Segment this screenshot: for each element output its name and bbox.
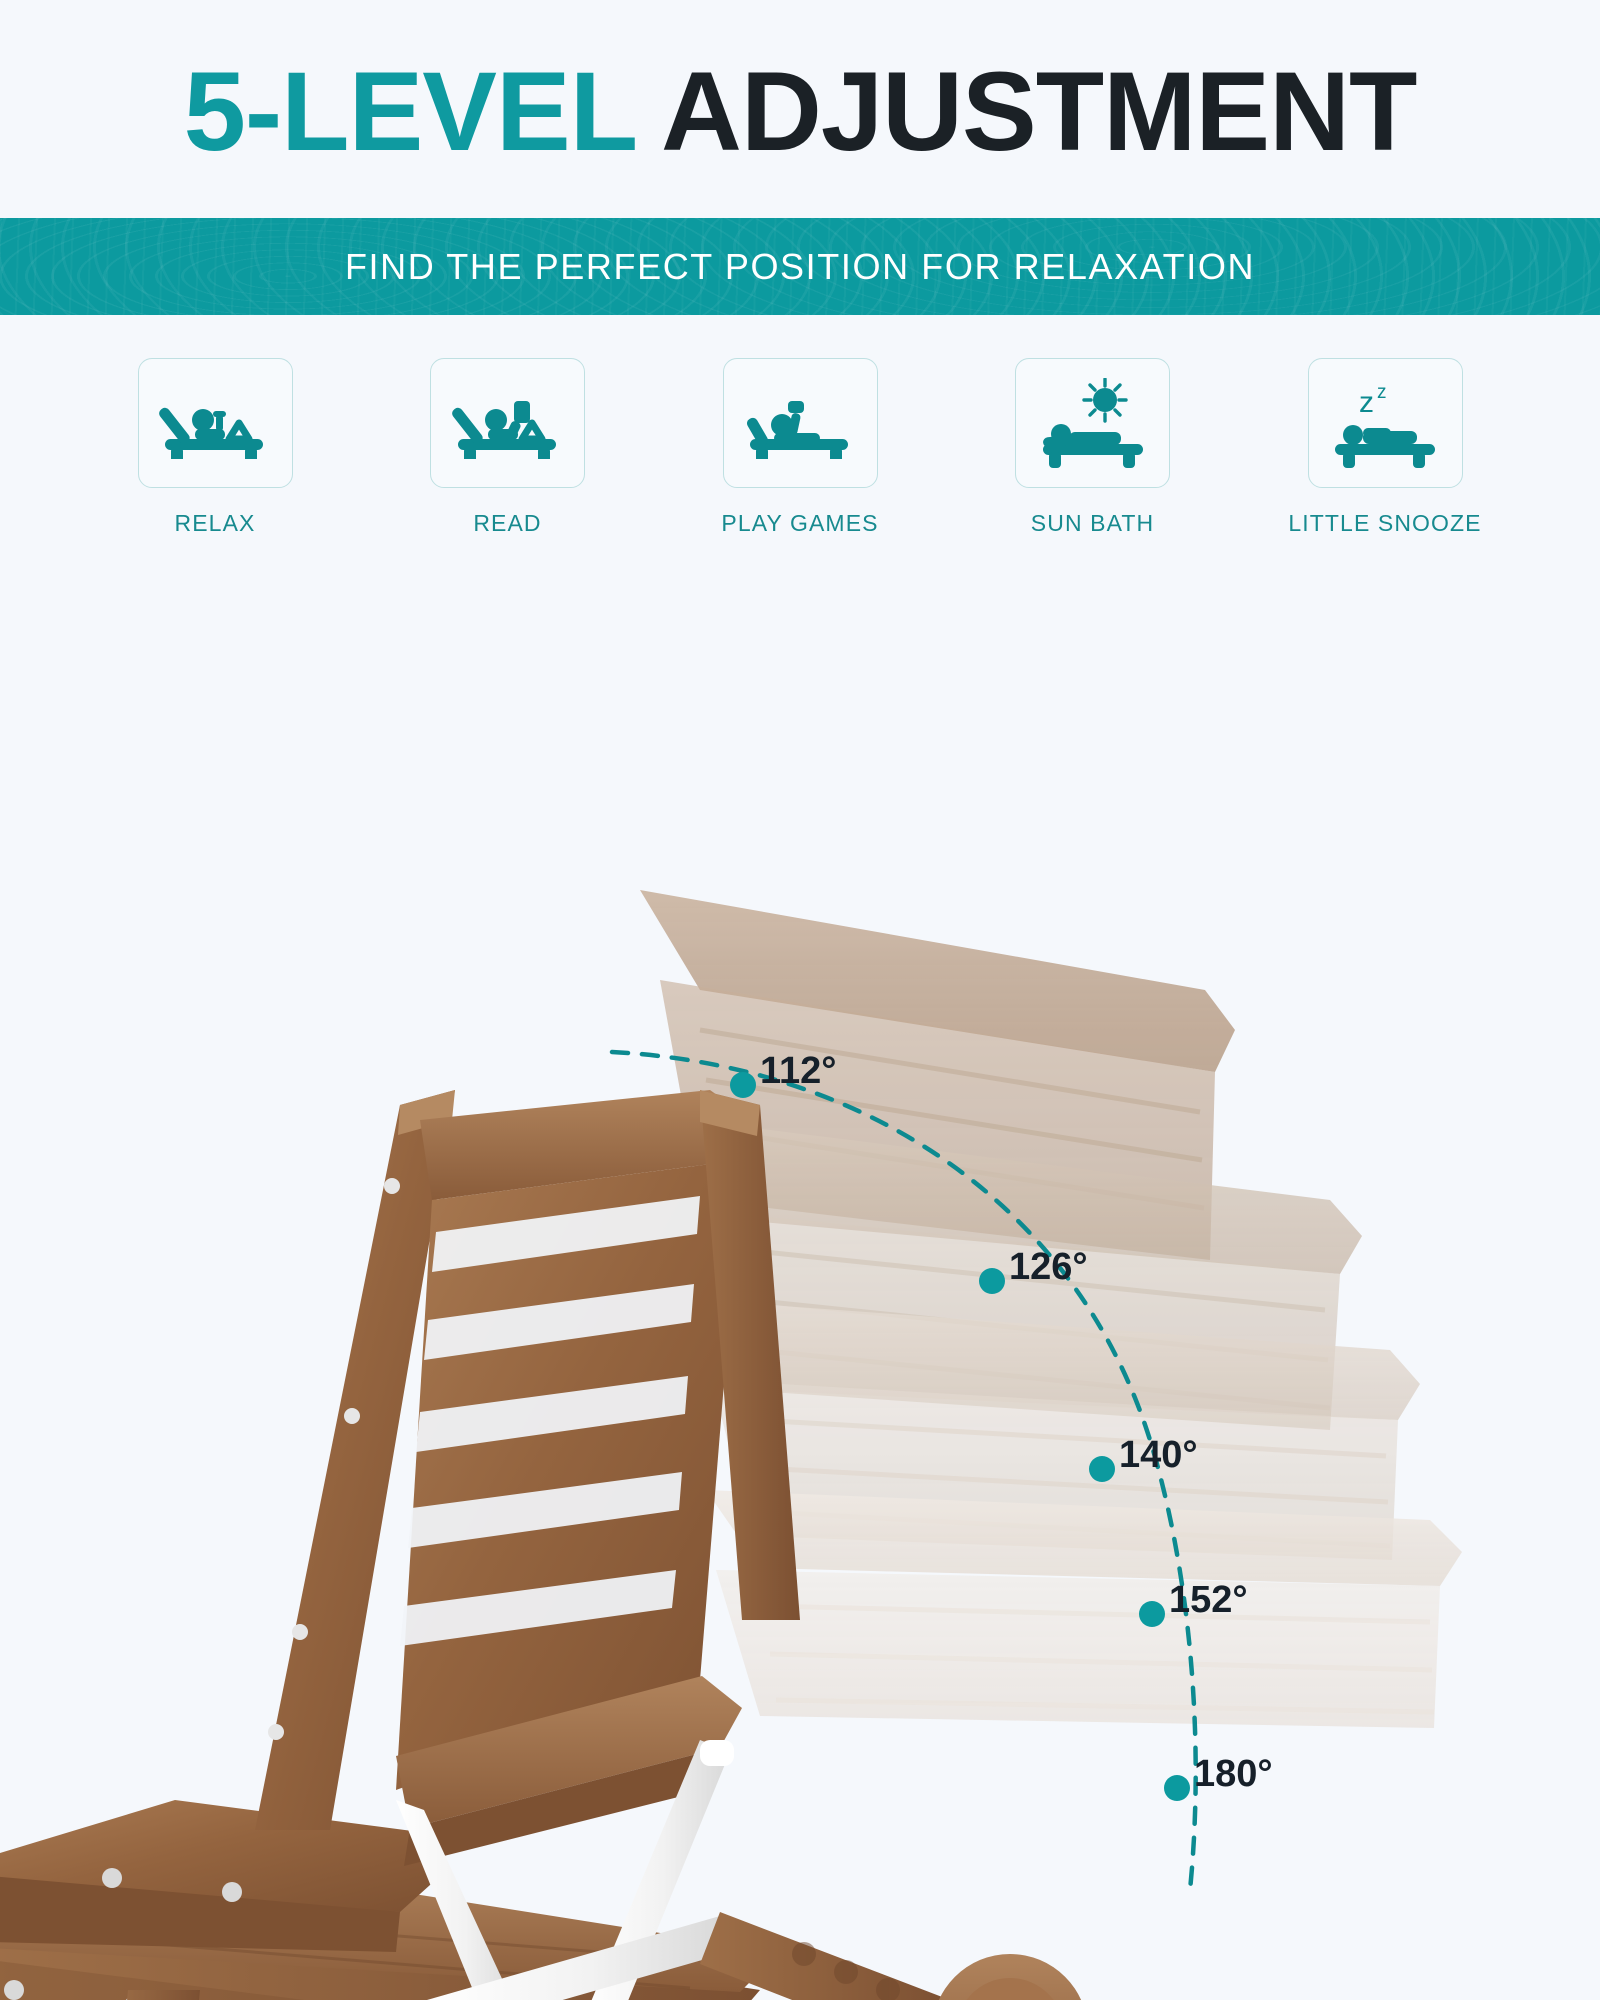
zzz-glyph-small: z [1377,382,1387,403]
angle-dot-140 [1089,1456,1115,1482]
angle-label-112: 112° [760,1050,837,1093]
feature-item-read[interactable]: READ [383,358,633,537]
chair-wheel [932,1954,1088,2000]
feature-icon-card [138,358,293,488]
feature-item-play-games[interactable]: PLAY GAMES [675,358,925,537]
ghost-backrest-180 [706,1490,1462,1728]
person-reclined-reading-icon [159,387,271,459]
feature-label: SUN BATH [1031,510,1154,537]
chaise-lounge-illustration [0,560,1600,2000]
angle-dot-112 [730,1072,756,1098]
angle-label-126: 126° [1009,1246,1088,1289]
angle-label-180: 180° [1194,1753,1273,1796]
subtitle-text: FIND THE PERFECT POSITION FOR RELAXATION [0,218,1600,315]
infographic-page: 5-LEVEL ADJUSTMENT FIND THE PERFECT POSI… [0,0,1600,2000]
feature-icon-card [430,358,585,488]
feature-item-relax[interactable]: RELAX [90,358,340,537]
person-reclined-book-icon [452,387,564,459]
angle-dot-152 [1139,1601,1165,1627]
angle-dot-126 [979,1268,1005,1294]
feature-icon-row: RELAX R [90,358,1510,558]
page-title: 5-LEVEL ADJUSTMENT [0,56,1600,168]
subtitle-band: FIND THE PERFECT POSITION FOR RELAXATION [0,218,1600,315]
zzz-glyph: z [1359,386,1374,419]
product-diagram: 112° 126° 140° 152° 180° [0,560,1600,2000]
person-flat-sun-icon [1037,378,1149,468]
feature-icon-card [1015,358,1170,488]
feature-label: RELAX [175,510,256,537]
feature-icon-card: z z [1308,358,1463,488]
feature-label: LITTLE SNOOZE [1288,510,1481,537]
feature-item-sun-bath[interactable]: SUN BATH [968,358,1218,537]
angle-dot-180 [1164,1775,1190,1801]
feature-item-little-snooze[interactable]: z z LITTLE SNOOZE [1260,358,1510,537]
angle-label-152: 152° [1169,1579,1248,1622]
angle-label-140: 140° [1119,1434,1198,1477]
feature-icon-card [723,358,878,488]
page-title-rest: ADJUSTMENT [635,49,1416,174]
page-title-accent: 5-LEVEL [184,49,636,174]
feature-label: PLAY GAMES [721,510,878,537]
person-reclined-controller-icon [744,387,856,459]
person-flat-sleeping-icon: z z [1329,378,1441,468]
feature-label: READ [473,510,541,537]
